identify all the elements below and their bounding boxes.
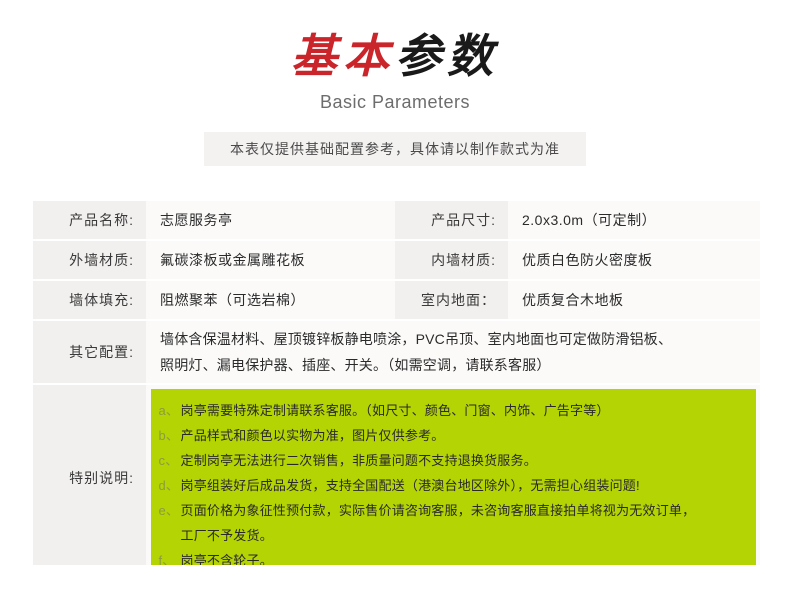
- note-text: 岗亭组装好后成品发货，支持全国配送（港澳台地区除外），无需担心组装问题!: [181, 473, 640, 498]
- page-title-dark-segment: 参数: [395, 31, 499, 82]
- table-row-special-notes: 特别说明: a、 岗亭需要特殊定制请联系客服。（如尺寸、颜色、门窗、内饰、广告字…: [33, 385, 760, 570]
- spec-value-indoor-floor: 优质复合木地板: [508, 281, 760, 319]
- note-text: 工厂不予发货。: [181, 523, 273, 548]
- other-config-line: 墙体含保温材料、屋顶镀锌板静电喷涂，PVC吊顶、室内地面也可定做防滑铝板、: [160, 326, 672, 352]
- note-item: a、 岗亭需要特殊定制请联系客服。（如尺寸、颜色、门窗、内饰、广告字等）: [159, 398, 756, 423]
- note-marker: c、: [159, 448, 181, 473]
- note-marker: d、: [159, 473, 181, 498]
- spec-value-interior-wall: 优质白色防火密度板: [508, 241, 760, 279]
- spec-value-product-size: 2.0x3.0m（可定制）: [508, 201, 760, 239]
- spec-value-exterior-wall: 氟碳漆板或金属雕花板: [146, 241, 395, 279]
- page-title: 基本参数: [0, 28, 790, 86]
- banner-note: 本表仅提供基础配置参考，具体请以制作款式为准: [204, 132, 586, 166]
- table-row: 墙体填充: 阻燃聚苯（可选岩棉） 室内地面： 优质复合木地板: [33, 281, 760, 321]
- special-notes-cell: a、 岗亭需要特殊定制请联系客服。（如尺寸、颜色、门窗、内饰、广告字等） b、 …: [146, 385, 760, 570]
- spec-label-interior-wall: 内墙材质:: [395, 241, 508, 279]
- spec-label-product-size: 产品尺寸:: [395, 201, 508, 239]
- note-item: d、 岗亭组装好后成品发货，支持全国配送（港澳台地区除外），无需担心组装问题!: [159, 473, 756, 498]
- spec-value-product-name: 志愿服务亭: [146, 201, 395, 239]
- spec-label-special-notes: 特别说明:: [33, 385, 146, 570]
- page-subtitle: Basic Parameters: [0, 90, 790, 114]
- note-text: 岗亭需要特殊定制请联系客服。（如尺寸、颜色、门窗、内饰、广告字等）: [181, 398, 610, 423]
- note-item: c、 定制岗亭无法进行二次销售，非质量问题不支持退换货服务。: [159, 448, 756, 473]
- special-notes-panel: a、 岗亭需要特殊定制请联系客服。（如尺寸、颜色、门窗、内饰、广告字等） b、 …: [151, 389, 756, 566]
- note-marker: e、: [159, 498, 181, 523]
- note-text: 定制岗亭无法进行二次销售，非质量问题不支持退换货服务。: [181, 448, 537, 473]
- note-text: 页面价格为象征性预付款，实际售价请咨询客服，未咨询客服直接拍单将视为无效订单，: [181, 498, 696, 523]
- spec-value-wall-filling: 阻燃聚苯（可选岩棉）: [146, 281, 395, 319]
- spec-value-other-config: 墙体含保温材料、屋顶镀锌板静电喷涂，PVC吊顶、室内地面也可定做防滑铝板、 照明…: [146, 321, 760, 383]
- banner-container: 本表仅提供基础配置参考，具体请以制作款式为准: [0, 132, 790, 166]
- page-header: 基本参数 Basic Parameters: [0, 0, 790, 114]
- note-item: b、 产品样式和颜色以实物为准，图片仅供参考。: [159, 423, 756, 448]
- note-marker: a、: [159, 398, 181, 423]
- spec-label-exterior-wall: 外墙材质:: [33, 241, 146, 279]
- note-text: 产品样式和颜色以实物为准，图片仅供参考。: [181, 423, 445, 448]
- spec-label-other-config: 其它配置:: [33, 321, 146, 383]
- other-config-line: 照明灯、漏电保护器、插座、开关。（如需空调，请联系客服）: [160, 352, 672, 378]
- spec-label-wall-filling: 墙体填充:: [33, 281, 146, 319]
- footer-spacer: [0, 565, 790, 590]
- table-row: 外墙材质: 氟碳漆板或金属雕花板 内墙材质: 优质白色防火密度板: [33, 241, 760, 281]
- note-item-continuation: 工厂不予发货。: [159, 523, 756, 548]
- spec-label-indoor-floor: 室内地面：: [395, 281, 508, 319]
- spec-table: 产品名称: 志愿服务亭 产品尺寸: 2.0x3.0m（可定制） 外墙材质: 氟碳…: [33, 201, 760, 570]
- note-marker: b、: [159, 423, 181, 448]
- table-row: 产品名称: 志愿服务亭 产品尺寸: 2.0x3.0m（可定制）: [33, 201, 760, 241]
- table-row-other-config: 其它配置: 墙体含保温材料、屋顶镀锌板静电喷涂，PVC吊顶、室内地面也可定做防滑…: [33, 321, 760, 385]
- note-item: e、 页面价格为象征性预付款，实际售价请咨询客服，未咨询客服直接拍单将视为无效订…: [159, 498, 756, 523]
- page-title-red-segment: 基本: [291, 31, 395, 82]
- note-marker-blank: [159, 523, 181, 548]
- spec-label-product-name: 产品名称:: [33, 201, 146, 239]
